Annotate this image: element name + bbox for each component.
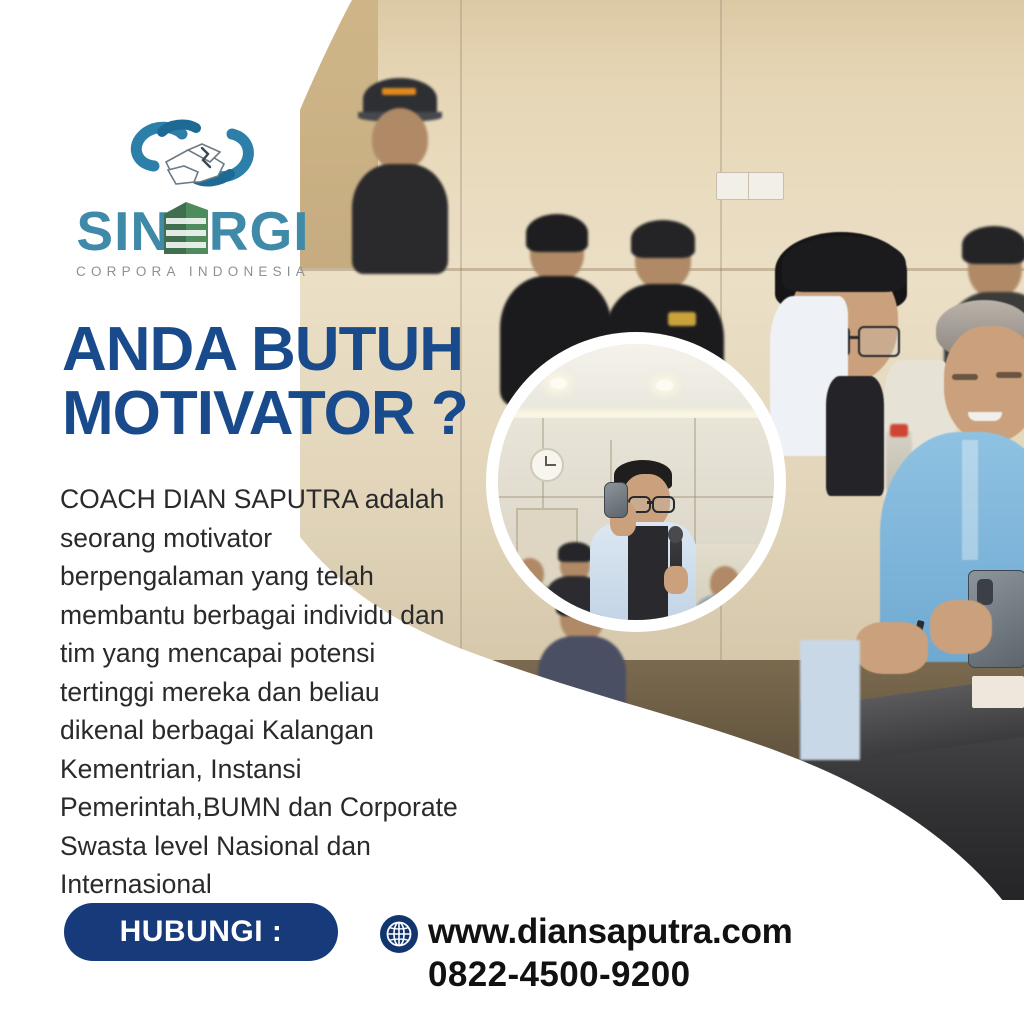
logo-building-icon	[156, 196, 232, 258]
hand	[856, 622, 928, 674]
page-title: ANDA BUTUH MOTIVATOR ?	[62, 318, 532, 447]
body-line: tertinggi mereka dan beliau	[60, 673, 500, 712]
wall-clock	[530, 448, 564, 482]
phone-text[interactable]: 0822-4500-9200	[428, 955, 691, 995]
hubungi-button[interactable]: HUBUNGI :	[64, 903, 338, 961]
website-text[interactable]: www.diansaputra.com	[428, 912, 792, 952]
headline-line-2: MOTIVATOR ?	[62, 382, 532, 446]
body-line: berpengalaman yang telah	[60, 557, 500, 596]
body-line: seorang motivator	[60, 519, 500, 558]
body-line: tim yang mencapai potensi	[60, 634, 500, 673]
headline-line-1: ANDA BUTUH	[62, 318, 532, 382]
body-line: dikenal berbagai Kalangan	[60, 711, 500, 750]
sleeve	[800, 640, 860, 760]
body-line: Pemerintah,BUMN dan Corporate	[60, 788, 500, 827]
body-paragraph: COACH DIAN SAPUTRA adalah seorang motiva…	[60, 480, 500, 904]
light-switch	[716, 172, 752, 200]
body-line: COACH DIAN SAPUTRA adalah	[60, 480, 500, 519]
paper	[972, 676, 1024, 708]
body-line: Swasta level Nasional dan	[60, 827, 500, 866]
hubungi-label: HUBUNGI :	[120, 915, 283, 949]
eyeglasses	[858, 326, 900, 357]
light-switch	[748, 172, 784, 200]
globe-icon	[380, 915, 418, 953]
body-line: Kementrian, Instansi	[60, 750, 500, 789]
body-line: Internasional	[60, 865, 500, 904]
brand-logo: SINERGI CORPORA INDONESIA	[62, 118, 324, 280]
hand	[930, 600, 992, 654]
body-line: membantu berbagai individu dan	[60, 596, 500, 635]
logo-subtitle: CORPORA INDONESIA	[62, 264, 324, 279]
inset-photo-speaker	[498, 344, 774, 620]
poster-canvas: SINERGI CORPORA INDONESIA ANDA BUTUH MOT…	[0, 0, 1024, 1024]
